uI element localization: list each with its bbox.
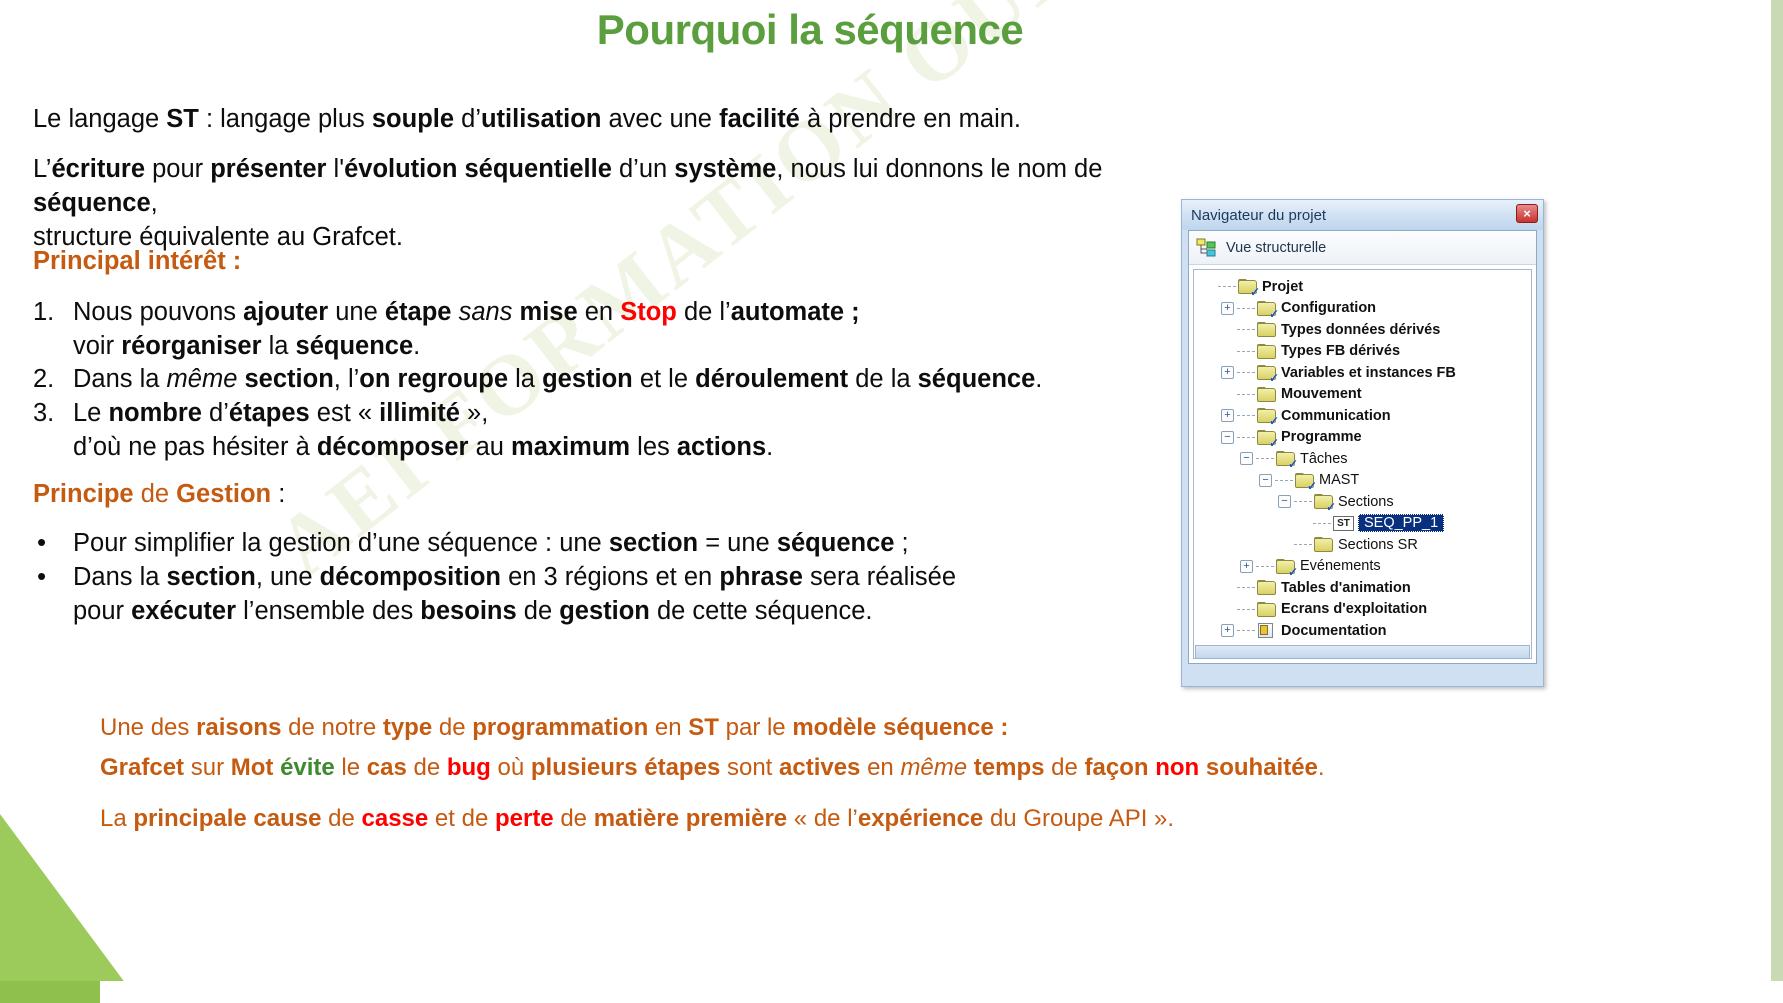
b1-c: = une (698, 529, 777, 557)
n3-a: Le (73, 399, 108, 427)
n1-i-stop: Stop (620, 298, 677, 326)
navigator-body: Vue structurelle ✓Projet+✓ConfigurationT… (1188, 230, 1537, 664)
b2-a: Dans la (73, 563, 167, 591)
n2-i: et le (633, 365, 695, 393)
tree-item-ev-nements[interactable]: +✓Evénements (1194, 556, 1531, 578)
green-bottom-bar-mask (100, 981, 1783, 1003)
tree-connector (1275, 480, 1293, 481)
folder-icon (1257, 387, 1276, 402)
tree-item-label: Configuration (1281, 300, 1376, 316)
list-marker-3: 3. (33, 397, 67, 431)
b1-d: séquence (777, 529, 895, 557)
f2-c: Mot (231, 754, 274, 781)
tree-connector (1237, 372, 1255, 373)
b2l2-f: gestion (559, 597, 650, 625)
p1-seg5: d’ (454, 105, 481, 133)
tree-item-label: Sections SR (1338, 537, 1418, 553)
p1-seg1: Le langage (33, 105, 166, 133)
f2-g: cas (367, 754, 407, 781)
b2l2-g: de cette séquence. (650, 597, 873, 625)
tree-indent-spacer (1221, 323, 1234, 336)
n3-c: d’ (202, 399, 229, 427)
folder-check-icon: ✓ (1257, 301, 1276, 316)
list-marker-2: 2. (33, 363, 67, 397)
f1-c: de notre (281, 714, 382, 741)
b2l2-c: l’ensemble des (236, 597, 420, 625)
n3l2-c: au (468, 433, 511, 461)
b2l2-b: exécuter (131, 597, 236, 625)
paragraph-language-st: Le langage ST : langage plus souple d’ut… (33, 103, 1163, 137)
f2-x: . (1318, 754, 1325, 781)
bullet-marker-1: • (37, 525, 46, 560)
f2-w: souhaitée (1206, 754, 1318, 781)
n2-f: on regroupe (359, 365, 508, 393)
f3-d-casse: casse (362, 805, 429, 832)
n1-a: Nous pouvons (73, 298, 243, 326)
n2-g: la (508, 365, 542, 393)
expand-icon[interactable]: + (1240, 560, 1253, 573)
p2-seg2: écriture (51, 155, 145, 183)
f3-f-perte: perte (495, 805, 554, 832)
n2-c (237, 365, 244, 393)
p1-seg3: : langage plus (199, 105, 372, 133)
n3l2-e: les (630, 433, 677, 461)
tree-connector (1237, 587, 1255, 588)
p2-seg5: l' (326, 155, 344, 183)
tree-item-communication[interactable]: +✓Communication (1194, 405, 1531, 427)
tree-item-label: Ecrans d'exploitation (1281, 601, 1427, 617)
b2-e: en 3 régions et en (501, 563, 719, 591)
tree-connector (1313, 523, 1331, 524)
heading-principe-gestion: Principe de Gestion : (33, 480, 285, 509)
horizontal-scrollbar[interactable] (1195, 645, 1530, 659)
f2-m: actives (779, 754, 860, 781)
expand-icon[interactable]: + (1221, 302, 1234, 315)
b2-c: , une (256, 563, 320, 591)
f1-h: ST (688, 714, 719, 741)
list-marker-1: 1. (33, 296, 67, 330)
heading-principal-interet: Principal intérêt : (33, 247, 241, 276)
tree-connector (1237, 329, 1255, 330)
bullet-list-item-1: • Pour simplifier la gestion d’une séque… (33, 527, 1183, 561)
n3l2-b: décomposer (317, 433, 469, 461)
folder-open-check-icon: ✓ (1276, 451, 1295, 466)
numbered-list-item-1: 1. Nous pouvons ajouter une étape sans m… (33, 296, 1163, 364)
n1-k: automate ; (731, 298, 860, 326)
folder-icon (1257, 322, 1276, 337)
tree-item-projet[interactable]: ✓Projet (1194, 276, 1531, 298)
tree-connector (1256, 566, 1274, 567)
expand-icon[interactable]: + (1221, 409, 1234, 422)
tree-item-mouvement[interactable]: Mouvement (1194, 384, 1531, 406)
f2-r: de (1044, 754, 1084, 781)
tree-item-label: Mouvement (1281, 386, 1362, 402)
folder-open-check-icon: ✓ (1238, 279, 1257, 294)
p2-seg1: L’ (33, 155, 51, 183)
n3-g: », (460, 399, 488, 427)
tree-connector (1294, 501, 1312, 502)
tree-connector (1237, 351, 1255, 352)
tree-connector (1237, 609, 1255, 610)
tree-item-ecrans-d-exploitation[interactable]: Ecrans d'exploitation (1194, 599, 1531, 621)
collapse-icon[interactable]: − (1240, 452, 1253, 465)
bullet-list-item-2: • Dans la section, une décomposition en … (33, 561, 1183, 629)
collapse-icon[interactable]: − (1221, 431, 1234, 444)
p2-seg4: présenter (210, 155, 326, 183)
expand-icon[interactable]: + (1221, 624, 1234, 637)
n1-j: de l’ (677, 298, 731, 326)
tree-item-label: Evénements (1300, 558, 1381, 574)
green-left-triangle-decoration (0, 583, 140, 1003)
navigator-titlebar[interactable]: Navigateur du projet × (1182, 200, 1543, 230)
n1l2-c: la (262, 332, 296, 360)
p1-seg2: ST (166, 105, 199, 133)
b1-b: section (609, 529, 698, 557)
principe-de: de (134, 480, 177, 508)
collapse-icon[interactable]: − (1259, 474, 1272, 487)
f1-g: en (648, 714, 688, 741)
page-title: Pourquoi la séquence (0, 6, 1620, 54)
n3-b: nombre (108, 399, 202, 427)
tree-indent-spacer (1221, 388, 1234, 401)
tree-connector (1237, 437, 1255, 438)
principe-colon: : (271, 480, 285, 508)
f2-e-evite: évite (280, 754, 335, 781)
tree-item-types-donn-es-d-riv-s[interactable]: Types données dérivés (1194, 319, 1531, 341)
p1-seg9: à prendre en main. (800, 105, 1021, 133)
tree-connector (1237, 415, 1255, 416)
f3-h: matière première (594, 805, 787, 832)
tree-indent-spacer (1297, 517, 1310, 530)
n2-a: Dans la (73, 365, 167, 393)
n3-f: illimité (379, 399, 460, 427)
n2-l: séquence (918, 365, 1036, 393)
tree-indent-spacer (1221, 345, 1234, 358)
p1-seg4: souple (372, 105, 454, 133)
folder-icon (1257, 344, 1276, 359)
tree-item-documentation[interactable]: +Documentation (1194, 620, 1531, 642)
f1-b: raisons (196, 714, 281, 741)
p2-seg7: d’un (612, 155, 674, 183)
f2-n: en (860, 754, 900, 781)
tree-item-sections[interactable]: −✓Sections (1194, 491, 1531, 513)
f2-f: le (335, 754, 367, 781)
documentation-icon (1257, 623, 1276, 639)
tree-connector (1237, 630, 1255, 631)
f3-k: du Groupe API ». (983, 805, 1174, 832)
tree-item-label: Types FB dérivés (1281, 343, 1400, 359)
tree-item-mast[interactable]: −✓MAST (1194, 470, 1531, 492)
project-navigator-window[interactable]: Navigateur du projet × Vue structurelle … (1181, 199, 1544, 687)
n3-d: étapes (229, 399, 310, 427)
tree-item-sections-sr[interactable]: Sections SR (1194, 534, 1531, 556)
tree-connector (1237, 308, 1255, 309)
tree-item-label: Variables et instances FB (1281, 365, 1456, 381)
tree-indent-spacer (1221, 581, 1234, 594)
f1-a: Une des (100, 714, 196, 741)
n3l2-f: actions (677, 433, 766, 461)
tree-item-label: Tables d'animation (1281, 580, 1411, 596)
n1-g: mise (520, 298, 578, 326)
tree-item-label: SEQ_PP_1 (1358, 514, 1444, 532)
bullet-marker-2: • (37, 559, 46, 594)
navigator-title: Navigateur du projet (1182, 207, 1326, 224)
numbered-list-item-2: 2. Dans la même section, l’on regroupe l… (33, 363, 1183, 397)
n1-h: en (578, 298, 621, 326)
f2-s: façon (1085, 754, 1149, 781)
tree-item-programme[interactable]: −✓Programme (1194, 427, 1531, 449)
tree-connector (1218, 286, 1236, 287)
n1-d: étape (385, 298, 459, 326)
tree-item-tables-d-animation[interactable]: Tables d'animation (1194, 577, 1531, 599)
collapse-icon[interactable]: − (1278, 495, 1291, 508)
f1-e: de (432, 714, 472, 741)
n3l2-d: maximum (511, 433, 630, 461)
close-icon[interactable]: × (1516, 204, 1538, 223)
tree-indent-spacer (1278, 538, 1291, 551)
n1l2-a: voir (73, 332, 121, 360)
f2-p (967, 754, 974, 781)
p1-seg6: utilisation (481, 105, 601, 133)
expand-icon[interactable]: + (1221, 366, 1234, 379)
paragraph-ecriture: L’écriture pour présenter l'évolution sé… (33, 153, 1178, 255)
watermark-text: AEI FORMATION OUEST (257, 13, 1223, 928)
b2-g: sera réalisée (803, 563, 956, 591)
st-section-icon: ST (1333, 516, 1354, 531)
folder-check-icon: ✓ (1314, 494, 1333, 509)
n2-j: déroulement (695, 365, 848, 393)
p2-seg9: , nous lui donnons le nom de (776, 155, 1102, 183)
folder-open-check-icon: ✓ (1257, 430, 1276, 445)
p2-seg6: évolution séquentielle (344, 155, 612, 183)
f2-b: sur (184, 754, 231, 781)
tree-item-configuration[interactable]: +✓Configuration (1194, 298, 1531, 320)
n3l2-a: d’où ne pas hésiter à (73, 433, 317, 461)
tree-indent-spacer (1221, 603, 1234, 616)
f2-l: sont (720, 754, 779, 781)
tree-item-label: Programme (1281, 429, 1362, 445)
n2-b: même (167, 365, 238, 393)
folder-icon (1257, 602, 1276, 617)
tree-connector (1237, 394, 1255, 395)
n1-f (512, 298, 519, 326)
structural-view-icon (1196, 238, 1218, 258)
n1-c: une (328, 298, 385, 326)
principe-word: Principe (33, 480, 134, 508)
f1-f: programmation (472, 714, 648, 741)
p1-seg8: facilité (719, 105, 800, 133)
tree-connector (1294, 544, 1312, 545)
n3l2-g: . (766, 433, 773, 461)
f2-v (1199, 754, 1206, 781)
tree-item-label: Types données dérivés (1281, 322, 1440, 338)
n3-e: est « (310, 399, 379, 427)
numbered-list-item-3: 3. Le nombre d’étapes est « illimité », … (33, 397, 1183, 465)
f2-h: de (407, 754, 447, 781)
b1-a: Pour simplifier la gestion d’une séquenc… (73, 529, 609, 557)
f3-b: principale cause (133, 805, 321, 832)
f1-i: par le (719, 714, 792, 741)
f3-a: La (100, 805, 133, 832)
project-tree[interactable]: ✓Projet+✓ConfigurationTypes données déri… (1193, 269, 1532, 659)
tree-item-types-fb-d-riv-s[interactable]: Types FB dérivés (1194, 341, 1531, 363)
folder-check-icon: ✓ (1257, 365, 1276, 380)
folder-icon (1257, 580, 1276, 595)
n2-m: . (1035, 365, 1042, 393)
f3-j: expérience (858, 805, 983, 832)
n1l2-e: . (413, 332, 420, 360)
footnote-line-1: Une des raisons de notre type de program… (100, 712, 1600, 744)
tree-item-label: MAST (1319, 472, 1359, 488)
b2-f: phrase (719, 563, 803, 591)
tree-item-t-ches[interactable]: −✓Tâches (1194, 448, 1531, 470)
n1-b: ajouter (243, 298, 328, 326)
tree-item-label: Tâches (1300, 451, 1348, 467)
f2-j: où (491, 754, 531, 781)
f2-q: temps (974, 754, 1045, 781)
f2-o: même (900, 754, 967, 781)
f1-j: modèle séquence : (792, 714, 1008, 741)
b2-d: décomposition (320, 563, 501, 591)
folder-open-check-icon: ✓ (1295, 473, 1314, 488)
p1-seg7: avec une (601, 105, 719, 133)
n2-k: de la (848, 365, 917, 393)
b2l2-a: pour (73, 597, 131, 625)
p2-seg8: système (674, 155, 776, 183)
f2-i-bug: bug (447, 754, 491, 781)
n1l2-d: séquence (296, 332, 414, 360)
tree-item-label: Sections (1338, 494, 1394, 510)
navigator-toolbar[interactable]: Vue structurelle (1189, 231, 1536, 265)
b1-e: ; (894, 529, 908, 557)
f2-u-non: non (1155, 754, 1199, 781)
folder-check-icon: ✓ (1257, 408, 1276, 423)
footnote-line-3: La principale cause de casse et de perte… (100, 803, 1660, 835)
right-edge-strip (1771, 0, 1783, 1003)
b2l2-e: de (517, 597, 560, 625)
p2-seg11: , (151, 189, 158, 217)
b2-b: section (167, 563, 256, 591)
n1-e: sans (459, 298, 513, 326)
n2-e: , l’ (334, 365, 360, 393)
f3-i: « de l’ (787, 805, 858, 832)
folder-check-icon: ✓ (1276, 559, 1295, 574)
f3-e: et de (428, 805, 495, 832)
tree-item-seq-pp-1[interactable]: STSEQ_PP_1 (1194, 513, 1531, 535)
tree-item-variables-et-instances-fb[interactable]: +✓Variables et instances FB (1194, 362, 1531, 384)
folder-icon (1314, 537, 1333, 552)
p2-seg3: pour (145, 155, 210, 183)
f3-g: de (554, 805, 594, 832)
footnote-line-2: Grafcet sur Mot évite le cas de bug où p… (100, 752, 1660, 784)
b2l2-d: besoins (420, 597, 516, 625)
tree-item-label: Communication (1281, 408, 1391, 424)
n1l2-b: réorganiser (121, 332, 261, 360)
f1-d: type (383, 714, 432, 741)
f2-a: Grafcet (100, 754, 184, 781)
tree-item-label: Documentation (1281, 623, 1387, 639)
tree-indent-spacer (1202, 280, 1215, 293)
n2-h: gestion (542, 365, 633, 393)
n2-d: section (245, 365, 334, 393)
f3-c: de (321, 805, 361, 832)
f2-k: plusieurs étapes (531, 754, 720, 781)
principe-gestion: Gestion (176, 480, 271, 508)
tree-item-label: Projet (1262, 279, 1303, 295)
structural-view-label: Vue structurelle (1226, 240, 1326, 256)
p2-seg10: séquence (33, 189, 151, 217)
tree-connector (1256, 458, 1274, 459)
